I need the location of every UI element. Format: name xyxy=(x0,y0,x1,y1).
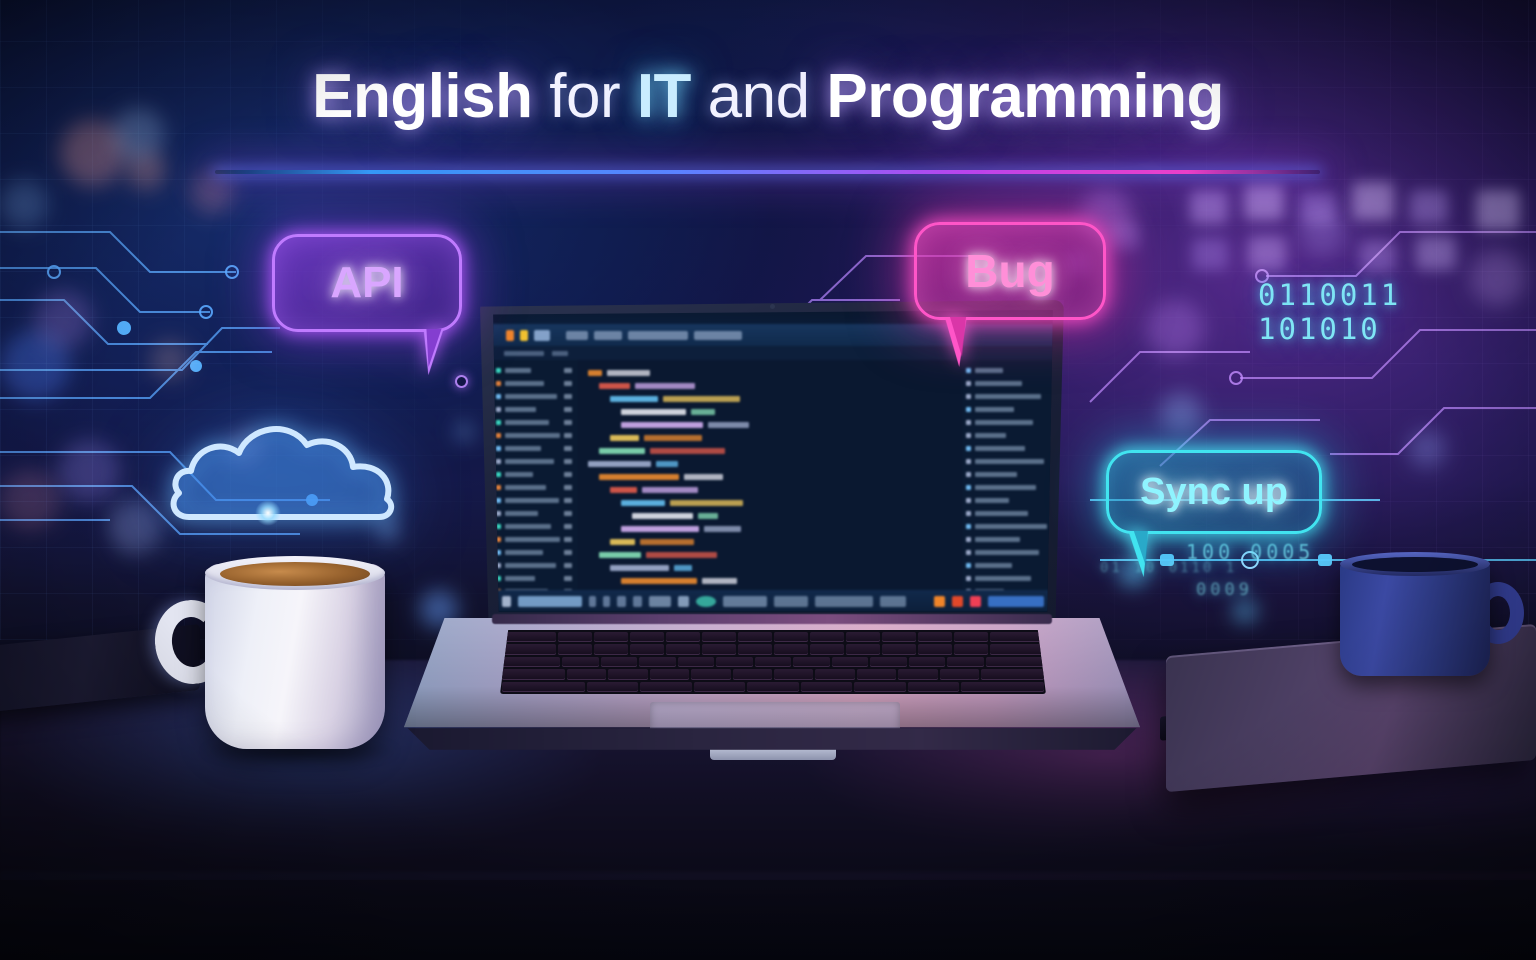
keyboard-key[interactable] xyxy=(857,669,896,679)
data-block xyxy=(1192,238,1228,270)
bokeh-light xyxy=(1408,430,1446,468)
code-token xyxy=(704,526,741,532)
symbol-icon xyxy=(966,420,971,425)
file-meta-text xyxy=(564,394,572,399)
cloud-glow-point xyxy=(255,500,281,526)
keyboard-key[interactable] xyxy=(986,657,1044,667)
code-token xyxy=(684,474,723,480)
file-name-text xyxy=(505,511,538,516)
bokeh-light xyxy=(108,500,162,554)
speech-bubble-bug[interactable]: Bug xyxy=(914,222,1106,320)
keyboard-key[interactable] xyxy=(733,669,772,679)
code-token xyxy=(610,565,669,571)
code-token xyxy=(691,409,715,415)
bubble-label-api: API xyxy=(330,258,403,308)
file-name-text xyxy=(505,563,556,568)
circuit-node-icon xyxy=(455,375,468,388)
bokeh-light xyxy=(190,170,234,214)
structure-row[interactable] xyxy=(966,494,1050,507)
symbol-icon xyxy=(966,394,971,399)
explorer-row[interactable] xyxy=(496,455,578,468)
code-token xyxy=(621,422,703,428)
keyboard-key[interactable] xyxy=(562,657,598,667)
explorer-row[interactable] xyxy=(496,377,578,390)
code-token xyxy=(610,487,637,493)
symbol-icon xyxy=(966,407,971,412)
file-name-text xyxy=(505,446,541,451)
speech-bubble-sync-up[interactable]: Sync up xyxy=(1106,450,1322,534)
bokeh-light xyxy=(60,120,126,186)
code-area[interactable] xyxy=(578,360,962,590)
keyboard-key[interactable] xyxy=(882,644,916,654)
keyboard-key[interactable] xyxy=(678,657,714,667)
bokeh-light xyxy=(58,440,120,502)
keyboard-key[interactable] xyxy=(747,682,799,692)
symbol-icon xyxy=(966,550,971,555)
symbol-icon xyxy=(966,485,971,490)
symbol-name-text xyxy=(975,550,1039,555)
title-part-programming: Programming xyxy=(826,62,1224,131)
explorer-row[interactable] xyxy=(496,364,578,377)
keyboard-key[interactable] xyxy=(502,657,560,667)
symbol-name-text xyxy=(975,459,1044,464)
laptop-keyboard[interactable] xyxy=(500,630,1046,694)
file-name-text xyxy=(505,485,546,490)
data-block xyxy=(1244,184,1284,220)
code-token xyxy=(650,448,725,454)
code-line[interactable] xyxy=(588,535,958,548)
keyboard-row[interactable] xyxy=(502,644,1044,654)
keyboard-key[interactable] xyxy=(755,657,791,667)
code-token xyxy=(610,435,639,441)
explorer-row[interactable] xyxy=(496,494,578,507)
symbol-name-text xyxy=(975,433,1006,438)
explorer-row[interactable] xyxy=(496,520,578,533)
mug-body xyxy=(205,564,385,749)
file-name-text xyxy=(505,381,544,386)
code-line[interactable] xyxy=(588,379,958,392)
poster-canvas: English for IT and Programming 0110011 1… xyxy=(0,0,1536,960)
keyboard-key[interactable] xyxy=(639,657,675,667)
status-icon[interactable] xyxy=(589,596,596,607)
code-line[interactable] xyxy=(588,574,958,587)
run-icon[interactable] xyxy=(506,330,514,341)
title-part-english: English xyxy=(312,62,549,131)
code-token xyxy=(599,448,645,454)
title-part-for: for xyxy=(549,62,637,131)
symbol-name-text xyxy=(975,537,1020,542)
code-token xyxy=(621,526,699,532)
file-meta-text xyxy=(564,524,572,529)
file-meta-text xyxy=(564,433,572,438)
structure-row[interactable] xyxy=(966,533,1050,546)
structure-row[interactable] xyxy=(966,416,1050,429)
code-token xyxy=(610,539,635,545)
keyboard-key[interactable] xyxy=(774,669,813,679)
code-line[interactable] xyxy=(588,522,958,535)
structure-row[interactable] xyxy=(966,390,1050,403)
code-token xyxy=(640,539,694,545)
code-line[interactable] xyxy=(588,392,958,405)
file-meta-text xyxy=(564,576,572,581)
keyboard-key[interactable] xyxy=(567,669,606,679)
structure-row[interactable] xyxy=(966,429,1050,442)
explorer-row[interactable] xyxy=(496,429,578,442)
alert-icon[interactable] xyxy=(970,596,981,607)
symbol-icon xyxy=(966,498,971,503)
breadcrumb-chip[interactable] xyxy=(552,351,568,356)
data-block xyxy=(1476,190,1520,230)
bokeh-light xyxy=(1300,210,1346,256)
file-name-text xyxy=(505,498,559,503)
file-meta-text xyxy=(564,537,572,542)
bubble-label-sync-up: Sync up xyxy=(1140,471,1288,514)
keyboard-key[interactable] xyxy=(954,644,988,654)
code-line[interactable] xyxy=(588,457,958,470)
bubble-label-bug: Bug xyxy=(965,244,1054,298)
keyboard-key[interactable] xyxy=(630,644,664,654)
code-token xyxy=(621,500,665,506)
symbol-name-text xyxy=(975,485,1036,490)
status-field[interactable] xyxy=(723,596,767,607)
structure-row[interactable] xyxy=(966,572,1050,585)
file-meta-text xyxy=(564,472,572,477)
code-line[interactable] xyxy=(588,431,958,444)
file-type-icon xyxy=(496,420,501,425)
blue-mug-interior xyxy=(1352,557,1478,572)
keyboard-key[interactable] xyxy=(981,669,1044,679)
toolbar-chip[interactable] xyxy=(566,331,588,340)
code-line[interactable] xyxy=(588,366,958,379)
keyboard-row[interactable] xyxy=(502,632,1044,642)
explorer-row[interactable] xyxy=(496,416,578,429)
symbol-name-text xyxy=(975,446,1025,451)
keyboard-key[interactable] xyxy=(810,644,844,654)
keyboard-key[interactable] xyxy=(738,632,772,642)
code-token xyxy=(702,578,737,584)
keyboard-key[interactable] xyxy=(666,632,700,642)
keyboard-key[interactable] xyxy=(502,682,585,692)
code-token xyxy=(663,396,740,402)
file-meta-text xyxy=(564,459,572,464)
bokeh-light xyxy=(1160,392,1202,434)
symbol-icon xyxy=(966,576,971,581)
code-token xyxy=(599,552,641,558)
project-explorer-panel[interactable] xyxy=(492,360,578,590)
editor-body xyxy=(492,360,1054,590)
code-line[interactable] xyxy=(588,444,958,457)
code-token xyxy=(708,422,749,428)
code-line[interactable] xyxy=(588,509,958,522)
symbol-icon xyxy=(966,433,971,438)
file-name-text xyxy=(505,524,551,529)
explorer-row[interactable] xyxy=(496,390,578,403)
file-type-icon xyxy=(496,381,501,386)
file-type-icon xyxy=(496,446,501,451)
keyboard-key[interactable] xyxy=(954,632,988,642)
keyboard-key[interactable] xyxy=(630,632,664,642)
file-meta-text xyxy=(564,381,572,386)
keyboard-key[interactable] xyxy=(909,657,945,667)
status-badge[interactable] xyxy=(696,596,716,607)
blue-mug-body xyxy=(1340,560,1490,676)
explorer-row[interactable] xyxy=(496,481,578,494)
keyboard-key[interactable] xyxy=(650,669,689,679)
laptop-front-edge xyxy=(400,728,1144,750)
structure-row[interactable] xyxy=(966,403,1050,416)
symbol-name-text xyxy=(975,576,1031,581)
keyboard-key[interactable] xyxy=(793,657,829,667)
status-bar[interactable] xyxy=(492,590,1054,612)
toolbar-chip[interactable] xyxy=(594,331,622,340)
status-field[interactable] xyxy=(880,596,906,607)
symbol-icon xyxy=(966,563,971,568)
symbol-name-text xyxy=(975,368,1003,373)
explorer-row[interactable] xyxy=(496,403,578,416)
structure-row[interactable] xyxy=(966,520,1050,533)
keyboard-key[interactable] xyxy=(832,657,868,667)
status-icon[interactable] xyxy=(603,596,610,607)
keyboard-key[interactable] xyxy=(666,644,700,654)
keyboard-key[interactable] xyxy=(640,682,692,692)
structure-row[interactable] xyxy=(966,559,1050,572)
explorer-row[interactable] xyxy=(496,468,578,481)
explorer-row[interactable] xyxy=(496,572,578,585)
webcam-icon xyxy=(770,304,775,309)
open-laptop xyxy=(404,300,1140,780)
code-line[interactable] xyxy=(588,405,958,418)
file-name-text xyxy=(505,537,561,542)
file-name-text xyxy=(505,433,560,438)
file-type-icon xyxy=(496,407,501,412)
warning-icon[interactable] xyxy=(934,596,945,607)
symbol-name-text xyxy=(975,511,1028,516)
bokeh-light xyxy=(1146,300,1204,358)
keyboard-row[interactable] xyxy=(502,669,1044,679)
structure-panel[interactable] xyxy=(962,360,1054,590)
file-meta-text xyxy=(564,563,572,568)
data-block xyxy=(1416,236,1456,270)
keyboard-key[interactable] xyxy=(502,669,565,679)
keyboard-key[interactable] xyxy=(918,644,952,654)
code-token xyxy=(674,565,692,571)
status-field[interactable] xyxy=(649,596,671,607)
page-title: English for IT and Programming xyxy=(0,66,1536,128)
code-token xyxy=(646,552,717,558)
coffee-surface xyxy=(220,562,370,586)
bokeh-light xyxy=(1234,600,1256,622)
toolbar-chip[interactable] xyxy=(694,331,742,340)
code-token xyxy=(588,370,602,376)
symbol-name-text xyxy=(975,407,1014,412)
keyboard-key[interactable] xyxy=(601,657,637,667)
data-block xyxy=(1352,182,1394,220)
keyboard-key[interactable] xyxy=(810,632,844,642)
symbol-icon xyxy=(966,524,971,529)
code-token xyxy=(632,513,693,519)
symbol-icon xyxy=(966,472,971,477)
file-name-text xyxy=(505,550,543,555)
status-icon[interactable] xyxy=(502,596,511,607)
blue-mug xyxy=(1330,546,1530,686)
symbol-name-text xyxy=(975,563,1012,568)
explorer-row[interactable] xyxy=(496,507,578,520)
keyboard-key[interactable] xyxy=(594,644,628,654)
explorer-row[interactable] xyxy=(496,533,578,546)
keyboard-key[interactable] xyxy=(558,644,592,654)
keyboard-key[interactable] xyxy=(716,657,752,667)
code-token xyxy=(642,487,698,493)
explorer-row[interactable] xyxy=(496,559,578,572)
cloud-icon xyxy=(165,405,405,535)
file-type-icon xyxy=(496,472,501,477)
keyboard-key[interactable] xyxy=(882,632,916,642)
keyboard-key[interactable] xyxy=(558,632,592,642)
file-meta-text xyxy=(564,498,572,503)
keyboard-key[interactable] xyxy=(846,644,880,654)
keyboard-key[interactable] xyxy=(940,669,979,679)
structure-row[interactable] xyxy=(966,377,1050,390)
keyboard-key[interactable] xyxy=(594,632,628,642)
file-type-icon xyxy=(496,433,501,438)
status-field[interactable] xyxy=(774,596,808,607)
bokeh-light xyxy=(126,150,166,190)
symbol-icon xyxy=(966,511,971,516)
keyboard-key[interactable] xyxy=(774,644,808,654)
code-token xyxy=(621,578,697,584)
structure-row[interactable] xyxy=(966,468,1050,481)
symbol-name-text xyxy=(975,472,1017,477)
bokeh-light xyxy=(0,330,70,400)
file-meta-text xyxy=(564,485,572,490)
code-token xyxy=(599,474,679,480)
title-part-it: IT xyxy=(637,62,691,131)
bokeh-light xyxy=(34,290,92,348)
bokeh-light xyxy=(150,340,190,380)
code-token xyxy=(656,461,678,467)
speech-bubble-api[interactable]: API xyxy=(272,234,462,332)
status-icon[interactable] xyxy=(617,596,626,607)
file-type-icon xyxy=(496,498,501,503)
breadcrumb-chip[interactable] xyxy=(504,351,544,356)
file-meta-text xyxy=(564,368,572,373)
bokeh-light xyxy=(0,180,48,228)
code-line[interactable] xyxy=(588,470,958,483)
explorer-row[interactable] xyxy=(496,442,578,455)
file-meta-text xyxy=(564,550,572,555)
code-token xyxy=(588,461,651,467)
status-field[interactable] xyxy=(518,596,582,607)
keyboard-key[interactable] xyxy=(587,682,639,692)
structure-row[interactable] xyxy=(966,455,1050,468)
error-icon[interactable] xyxy=(952,596,963,607)
keyboard-key[interactable] xyxy=(918,632,952,642)
file-meta-text xyxy=(564,446,572,451)
symbol-icon xyxy=(966,446,971,451)
code-line[interactable] xyxy=(588,496,958,509)
symbol-icon xyxy=(966,537,971,542)
keyboard-key[interactable] xyxy=(774,632,808,642)
file-name-text xyxy=(505,394,557,399)
keyboard-key[interactable] xyxy=(990,644,1044,654)
keyboard-key[interactable] xyxy=(694,682,746,692)
keyboard-key[interactable] xyxy=(854,682,906,692)
file-type-icon xyxy=(496,485,501,490)
binary-text-tertiary: 0009 xyxy=(1196,580,1253,600)
status-icon[interactable] xyxy=(678,596,689,607)
keyboard-key[interactable] xyxy=(815,669,854,679)
explorer-row[interactable] xyxy=(496,546,578,559)
data-block xyxy=(1248,236,1286,270)
file-meta-text xyxy=(564,407,572,412)
keyboard-key[interactable] xyxy=(502,632,556,642)
code-token xyxy=(698,513,718,519)
file-name-text xyxy=(505,420,549,425)
debug-icon[interactable] xyxy=(520,330,528,341)
keyboard-key[interactable] xyxy=(702,644,736,654)
structure-row[interactable] xyxy=(966,481,1050,494)
keyboard-key[interactable] xyxy=(908,682,960,692)
file-name-text xyxy=(505,407,536,412)
file-meta-text xyxy=(564,420,572,425)
code-token xyxy=(644,435,702,441)
data-block xyxy=(1410,190,1448,224)
keyboard-key[interactable] xyxy=(947,657,983,667)
structure-row[interactable] xyxy=(966,507,1050,520)
laptop-hinge xyxy=(492,614,1052,624)
progress-bar xyxy=(988,596,1044,607)
keyboard-row[interactable] xyxy=(502,682,1044,692)
file-name-text xyxy=(505,472,533,477)
binary-text-main: 0110011 101010 xyxy=(1258,278,1536,346)
data-block xyxy=(1110,222,1140,250)
keyboard-key[interactable] xyxy=(870,657,906,667)
keyboard-key[interactable] xyxy=(691,669,730,679)
symbol-name-text xyxy=(975,381,1022,386)
keyboard-key[interactable] xyxy=(702,632,736,642)
data-block xyxy=(1300,192,1336,224)
data-block xyxy=(1190,190,1228,224)
code-line[interactable] xyxy=(588,483,958,496)
file-type-icon xyxy=(496,368,501,373)
status-field[interactable] xyxy=(815,596,873,607)
status-icon[interactable] xyxy=(633,596,642,607)
structure-row[interactable] xyxy=(966,442,1050,455)
keyboard-key[interactable] xyxy=(990,632,1044,642)
structure-row[interactable] xyxy=(966,546,1050,559)
keyboard-row[interactable] xyxy=(502,657,1044,667)
keyboard-key[interactable] xyxy=(898,669,937,679)
code-line[interactable] xyxy=(588,418,958,431)
keyboard-key[interactable] xyxy=(846,632,880,642)
file-type-icon xyxy=(496,459,501,464)
keyboard-key[interactable] xyxy=(738,644,772,654)
code-line[interactable] xyxy=(588,561,958,574)
build-icon[interactable] xyxy=(534,330,550,341)
keyboard-key[interactable] xyxy=(502,644,556,654)
keyboard-key[interactable] xyxy=(801,682,853,692)
code-line[interactable] xyxy=(588,548,958,561)
toolbar-chip[interactable] xyxy=(628,331,688,340)
keyboard-key[interactable] xyxy=(608,669,647,679)
file-name-text xyxy=(505,368,531,373)
white-coffee-mug xyxy=(150,552,400,762)
keyboard-key[interactable] xyxy=(961,682,1044,692)
symbol-name-text xyxy=(975,524,1047,529)
code-token xyxy=(610,396,658,402)
file-type-icon xyxy=(496,394,501,399)
code-token xyxy=(670,500,743,506)
